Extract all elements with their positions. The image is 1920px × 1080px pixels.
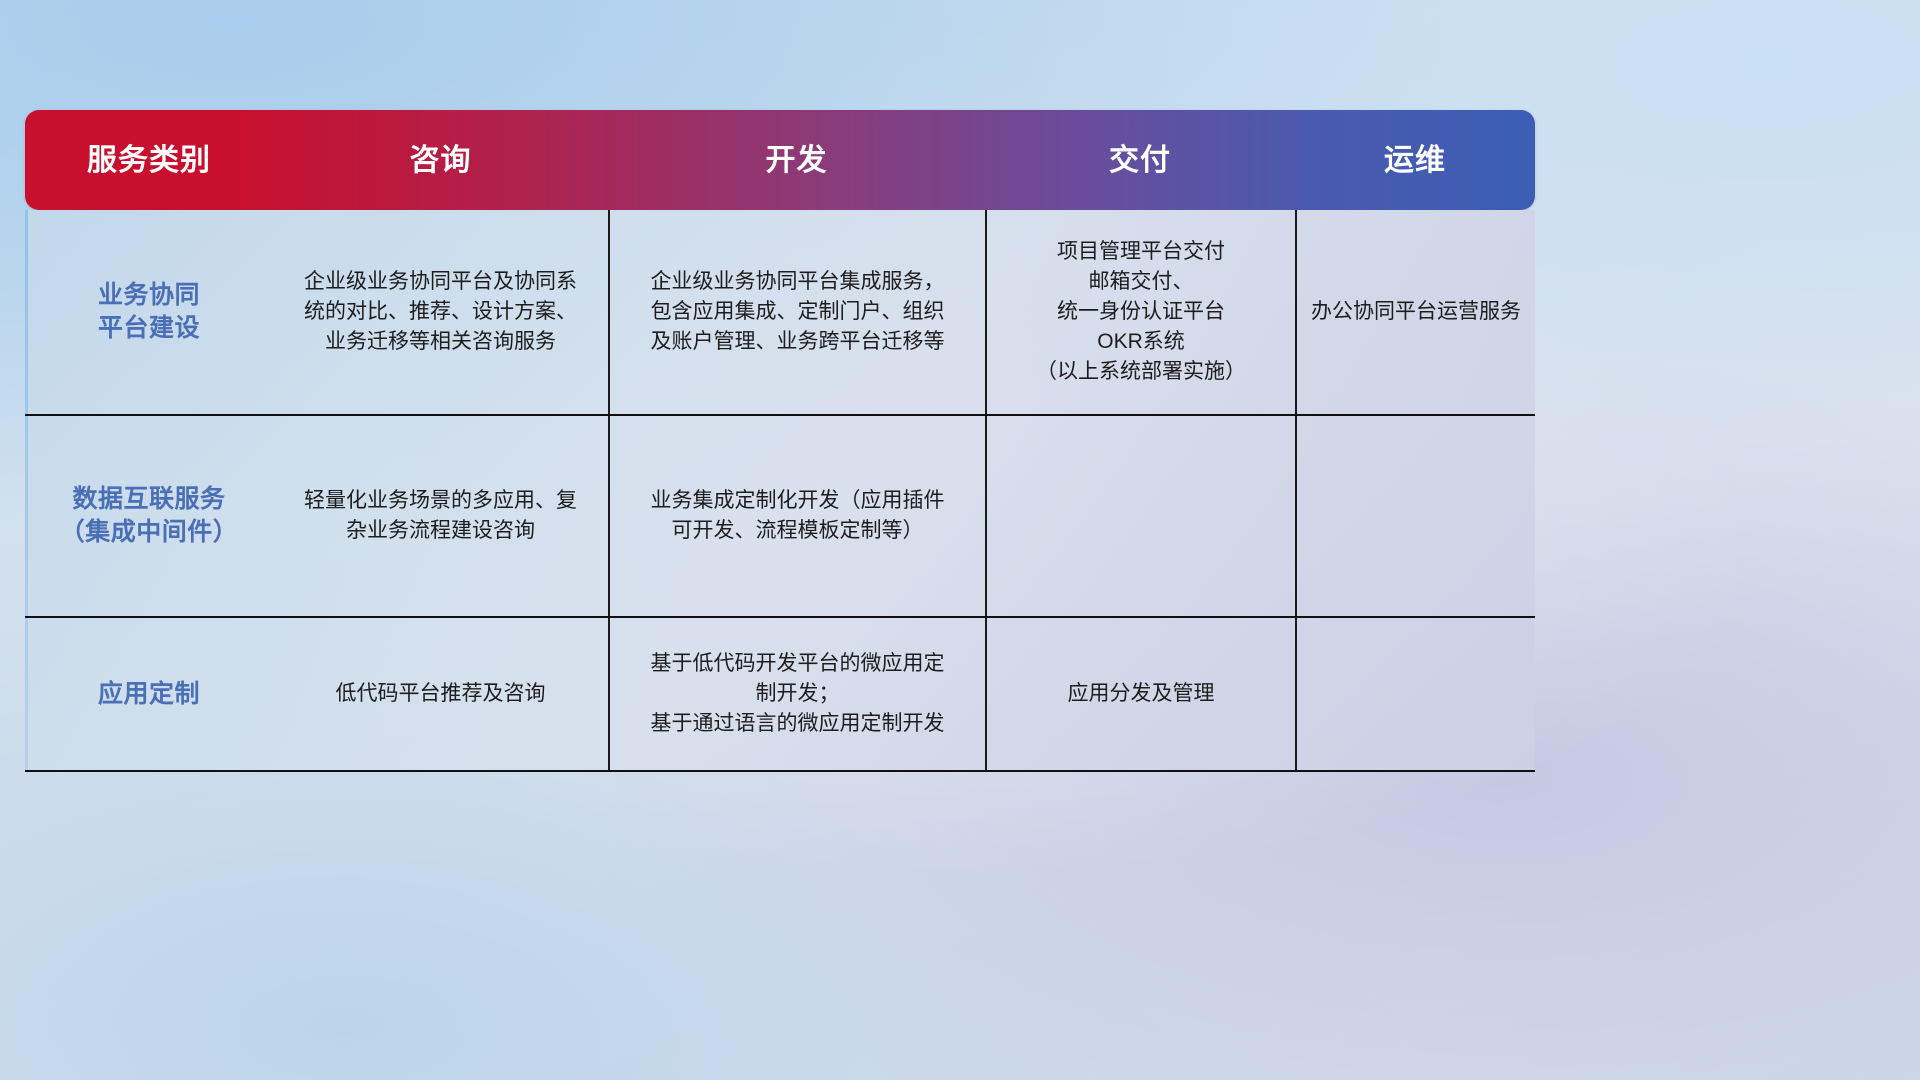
table-header-cell-category: 服务类别	[25, 146, 273, 176]
table-header-row: 服务类别 咨询 开发 交付 运维	[25, 110, 1535, 210]
table-row: 应用定制	[25, 618, 273, 770]
cell-delivery-row-1: 项目管理平台交付 邮箱交付、 统一身份认证平台 OKR系统 （以上系统部署实施）	[987, 210, 1295, 414]
cell-consulting-row-3: 低代码平台推荐及咨询	[273, 618, 608, 770]
cell-delivery-row-2	[987, 416, 1295, 616]
category-label-row-3: 应用定制	[98, 678, 200, 711]
cell-operations-row-3	[1297, 618, 1535, 770]
table-header-cell-consulting: 咨询	[273, 146, 608, 176]
table-header-cell-development: 开发	[608, 146, 985, 176]
table-row: 业务协同 平台建设	[25, 210, 273, 414]
category-label-row-2: 数据互联服务 （集成中间件）	[60, 483, 239, 549]
table-row: 数据互联服务 （集成中间件）	[25, 416, 273, 616]
table-header-cell-delivery: 交付	[985, 146, 1295, 176]
cell-delivery-row-3: 应用分发及管理	[987, 618, 1295, 770]
cell-consulting-row-2: 轻量化业务场景的多应用、复 杂业务流程建设咨询	[273, 416, 608, 616]
cell-consulting-row-1: 企业级业务协同平台及协同系 统的对比、推荐、设计方案、 业务迁移等相关咨询服务	[273, 210, 608, 414]
service-category-table: 服务类别 咨询 开发 交付 运维 业务协同 平台建设 企业级业务协同平台及协同系…	[25, 110, 1535, 772]
table-bottom-edge	[25, 770, 1535, 772]
table-body: 业务协同 平台建设 企业级业务协同平台及协同系 统的对比、推荐、设计方案、 业务…	[25, 210, 1535, 772]
cell-development-row-2: 业务集成定制化开发（应用插件 可开发、流程模板定制等）	[610, 416, 985, 616]
cell-development-row-3: 基于低代码开发平台的微应用定 制开发； 基于通过语言的微应用定制开发	[610, 618, 985, 770]
cell-operations-row-2	[1297, 416, 1535, 616]
cell-operations-row-1: 办公协同平台运营服务	[1297, 210, 1535, 414]
cell-development-row-1: 企业级业务协同平台集成服务， 包含应用集成、定制门户、组织 及账户管理、业务跨平…	[610, 210, 985, 414]
category-label-row-1: 业务协同 平台建设	[98, 279, 200, 345]
table-header-cell-operations: 运维	[1295, 146, 1535, 176]
